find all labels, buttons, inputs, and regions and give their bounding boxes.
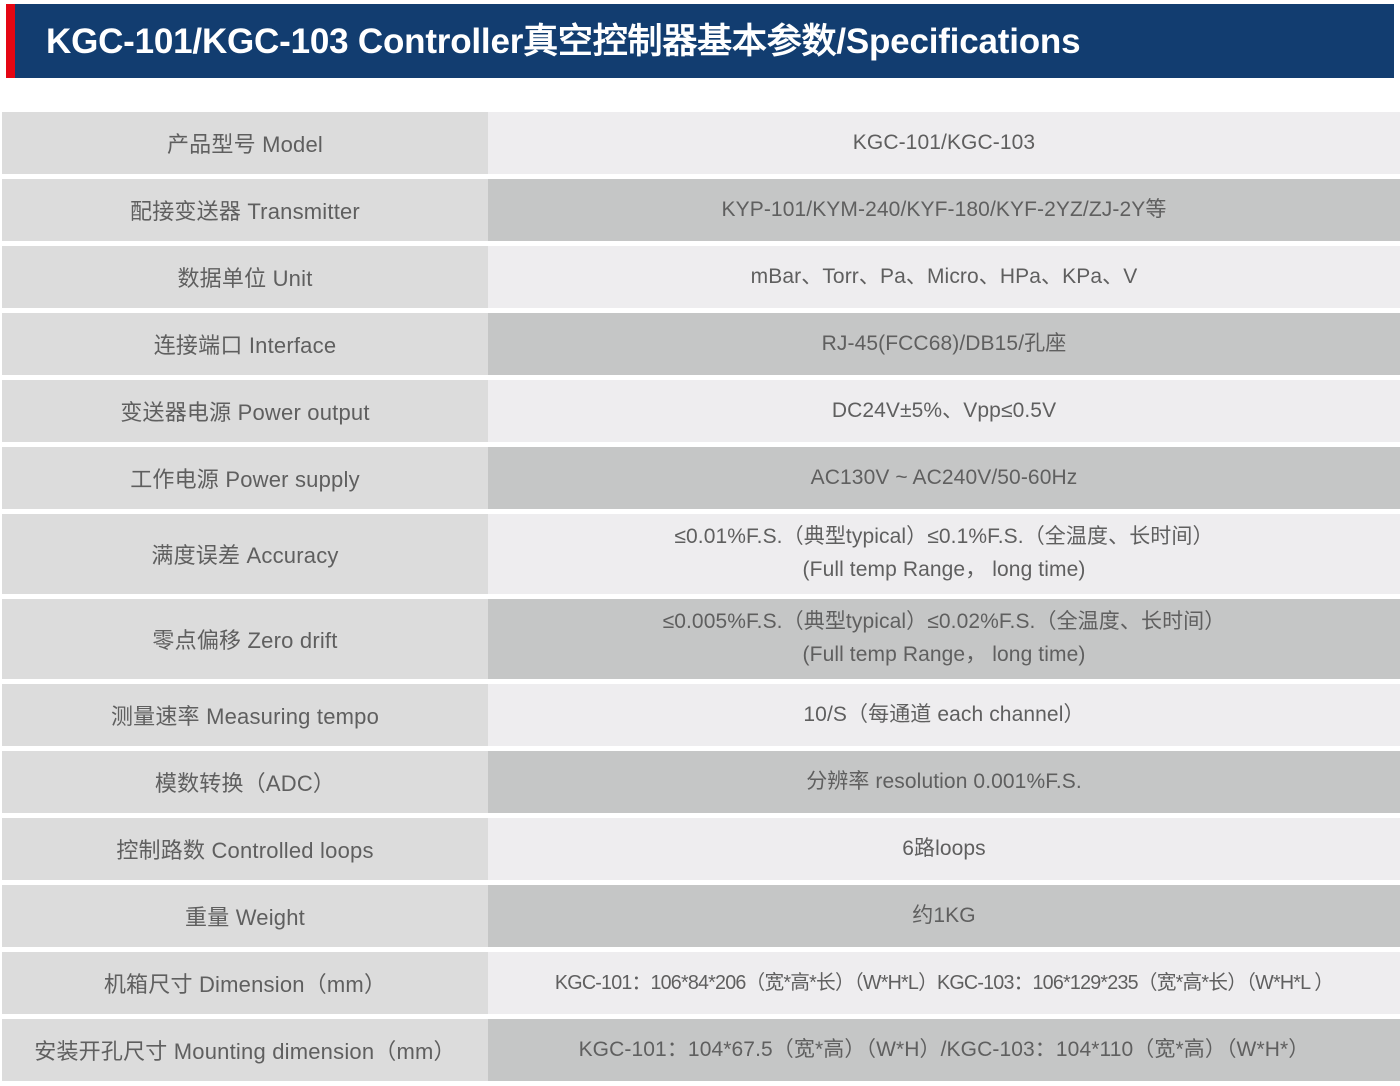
- table-row: 变送器电源 Power output DC24V±5%、Vpp≤0.5V: [2, 380, 1400, 442]
- table-row: 安装开孔尺寸 Mounting dimension（mm） KGC-101：10…: [2, 1019, 1400, 1081]
- table-row: 零点偏移 Zero drift ≤0.005%F.S.（典型typical）≤0…: [2, 599, 1400, 679]
- table-row: 工作电源 Power supply AC130V ~ AC240V/50-60H…: [2, 447, 1400, 509]
- row-value: 10/S（每通道 each channel）: [488, 684, 1400, 746]
- row-label: 数据单位 Unit: [2, 246, 488, 308]
- row-value: RJ-45(FCC68)/DB15/孔座: [488, 313, 1400, 375]
- row-label: 产品型号 Model: [2, 112, 488, 174]
- table-row: 产品型号 Model KGC-101/KGC-103: [2, 112, 1400, 174]
- row-value-line: (Full temp Range， long time): [803, 554, 1086, 587]
- table-row: 机箱尺寸 Dimension（mm） KGC-101：106*84*206（宽*…: [2, 952, 1400, 1014]
- row-value: KGC-101：106*84*206（宽*高*长）（W*H*L）KGC-103：…: [488, 952, 1400, 1014]
- row-label: 配接变送器 Transmitter: [2, 179, 488, 241]
- page-header-banner: KGC-101/KGC-103 Controller真空控制器基本参数/Spec…: [6, 4, 1394, 78]
- specifications-table: 产品型号 Model KGC-101/KGC-103 配接变送器 Transmi…: [2, 112, 1400, 1086]
- row-value: 分辨率 resolution 0.001%F.S.: [488, 751, 1400, 813]
- table-row: 连接端口 Interface RJ-45(FCC68)/DB15/孔座: [2, 313, 1400, 375]
- row-label: 连接端口 Interface: [2, 313, 488, 375]
- row-value: mBar、Torr、Pa、Micro、HPa、KPa、V: [488, 246, 1400, 308]
- table-row: 控制路数 Controlled loops 6路loops: [2, 818, 1400, 880]
- table-row: 模数转换（ADC） 分辨率 resolution 0.001%F.S.: [2, 751, 1400, 813]
- header-accent-bar: [6, 4, 15, 78]
- row-value: KGC-101/KGC-103: [488, 112, 1400, 174]
- row-label: 安装开孔尺寸 Mounting dimension（mm）: [2, 1019, 488, 1081]
- row-value: ≤0.005%F.S.（典型typical）≤0.02%F.S.（全温度、长时间…: [488, 599, 1400, 679]
- row-value: KYP-101/KYM-240/KYF-180/KYF-2YZ/ZJ-2Y等: [488, 179, 1400, 241]
- row-value-line: ≤0.01%F.S.（典型typical）≤0.1%F.S.（全温度、长时间）: [674, 521, 1213, 554]
- row-label: 零点偏移 Zero drift: [2, 599, 488, 679]
- specification-sheet: KGC-101/KGC-103 Controller真空控制器基本参数/Spec…: [0, 4, 1400, 1082]
- table-row: 数据单位 Unit mBar、Torr、Pa、Micro、HPa、KPa、V: [2, 246, 1400, 308]
- row-value: AC130V ~ AC240V/50-60Hz: [488, 447, 1400, 509]
- row-label: 满度误差 Accuracy: [2, 514, 488, 594]
- table-row: 重量 Weight 约1KG: [2, 885, 1400, 947]
- row-label: 工作电源 Power supply: [2, 447, 488, 509]
- table-row: 满度误差 Accuracy ≤0.01%F.S.（典型typical）≤0.1%…: [2, 514, 1400, 594]
- row-label: 测量速率 Measuring tempo: [2, 684, 488, 746]
- row-label: 机箱尺寸 Dimension（mm）: [2, 952, 488, 1014]
- page-title: KGC-101/KGC-103 Controller真空控制器基本参数/Spec…: [46, 24, 1080, 59]
- row-value-line: KGC-101：106*84*206（宽*高*长）（W*H*L）KGC-103：…: [555, 968, 1333, 999]
- row-value: KGC-101：104*67.5（宽*高）（W*H）/KGC-103：104*1…: [488, 1019, 1400, 1081]
- row-value: 6路loops: [488, 818, 1400, 880]
- table-row: 测量速率 Measuring tempo 10/S（每通道 each chann…: [2, 684, 1400, 746]
- table-row: 配接变送器 Transmitter KYP-101/KYM-240/KYF-18…: [2, 179, 1400, 241]
- row-value: ≤0.01%F.S.（典型typical）≤0.1%F.S.（全温度、长时间） …: [488, 514, 1400, 594]
- row-value-line: (Full temp Range， long time): [803, 639, 1086, 672]
- row-label: 控制路数 Controlled loops: [2, 818, 488, 880]
- row-label: 模数转换（ADC）: [2, 751, 488, 813]
- row-value: 约1KG: [488, 885, 1400, 947]
- row-value: DC24V±5%、Vpp≤0.5V: [488, 380, 1400, 442]
- row-label: 变送器电源 Power output: [2, 380, 488, 442]
- row-value-line: ≤0.005%F.S.（典型typical）≤0.02%F.S.（全温度、长时间…: [663, 606, 1226, 639]
- row-label: 重量 Weight: [2, 885, 488, 947]
